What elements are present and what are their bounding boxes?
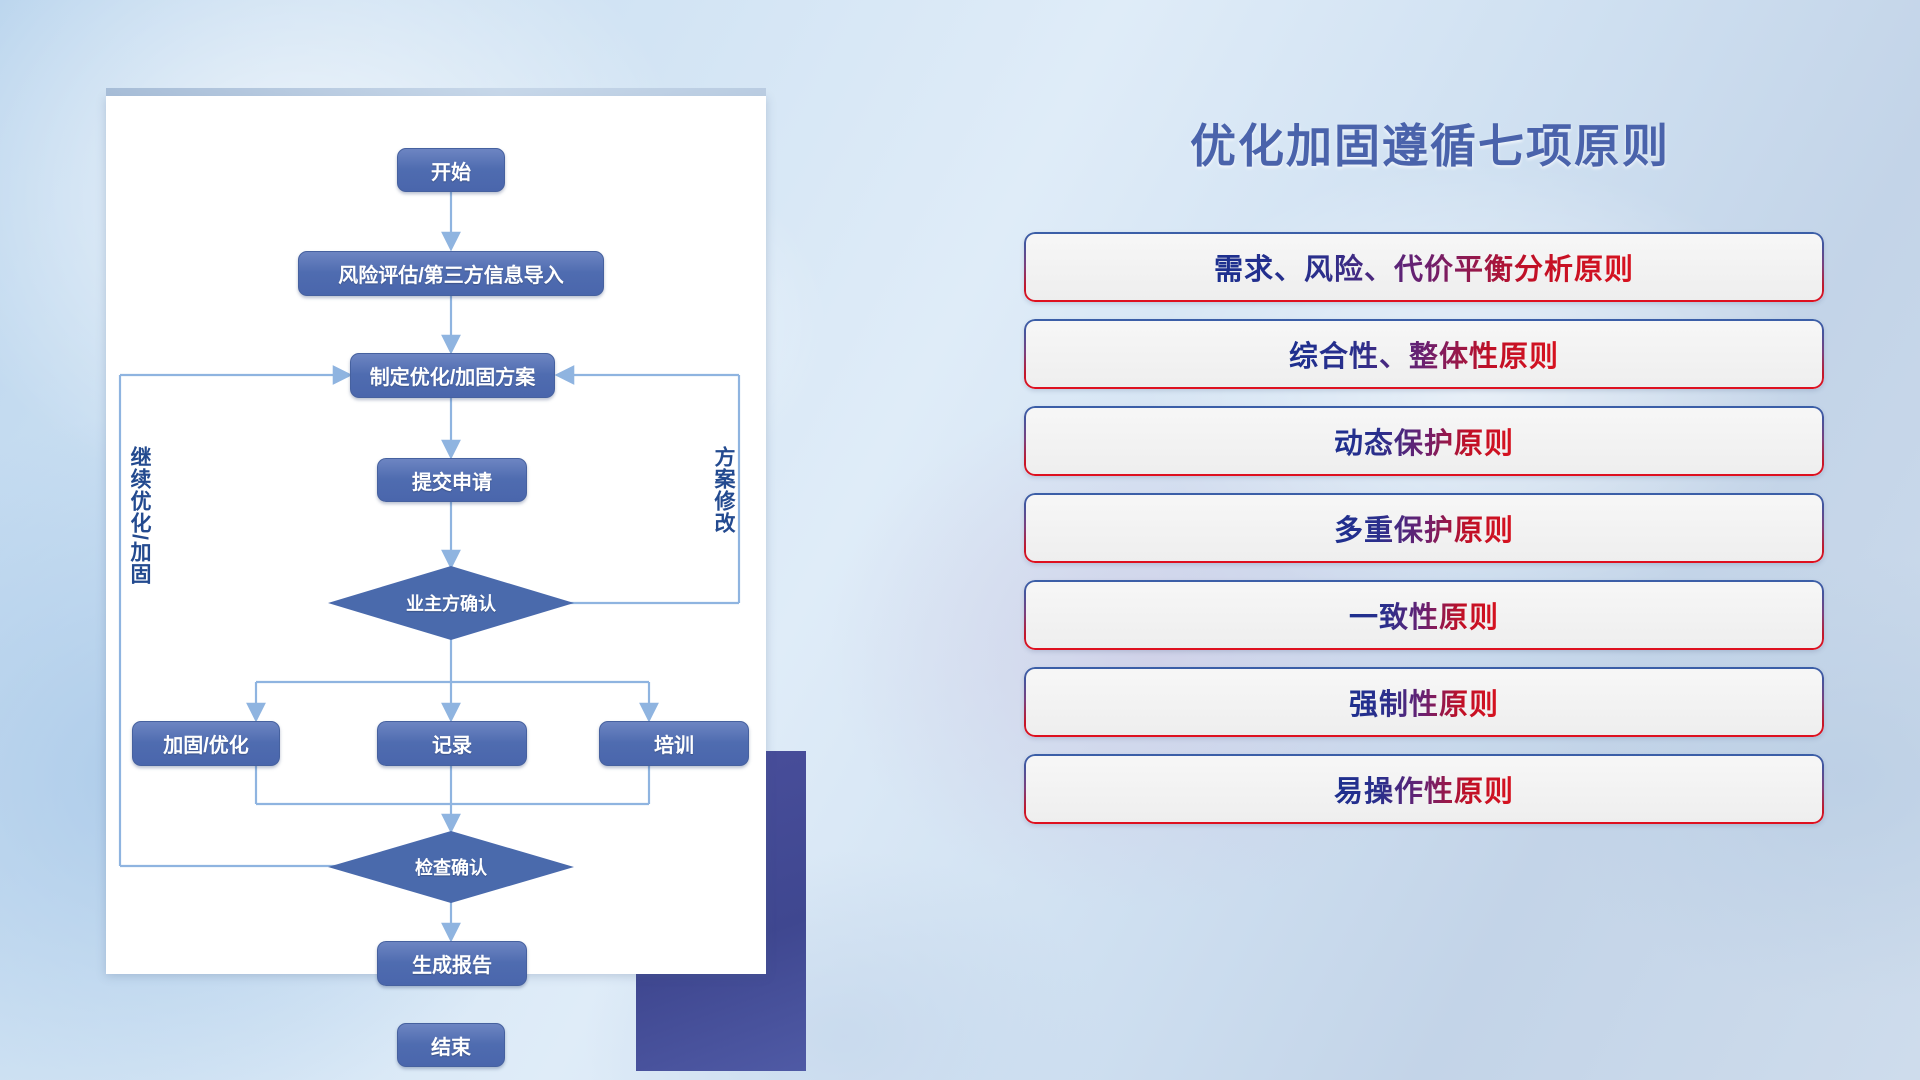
flow-node-record-label: 记录 — [432, 729, 472, 758]
sheet-top-edge — [106, 88, 766, 96]
principle-card-2-label: 综合性、整体性原则 — [1289, 333, 1559, 375]
principle-card-3[interactable]: 动态保护原则 — [1024, 406, 1824, 476]
principle-card-6-label: 强制性原则 — [1349, 681, 1499, 723]
principle-card-3-label: 动态保护原则 — [1334, 420, 1514, 462]
flow-node-plan-label: 制定优化/加固方案 — [370, 361, 536, 390]
principles-list: 需求、风险、代价平衡分析原则 综合性、整体性原则 动态保护原则 多重保护原则 一… — [1024, 232, 1824, 841]
flow-side-label-right-text: 方案修改 — [712, 446, 735, 534]
principle-card-5[interactable]: 一致性原则 — [1024, 580, 1824, 650]
principle-card-5-label: 一致性原则 — [1349, 594, 1499, 636]
principle-card-7-label: 易操作性原则 — [1334, 768, 1514, 810]
flow-node-plan[interactable]: 制定优化/加固方案 — [350, 353, 555, 398]
flow-node-reinforce[interactable]: 加固/优化 — [132, 721, 280, 766]
flow-node-check-confirm-label: 检查确认 — [415, 854, 487, 880]
flow-node-owner-confirm-label: 业主方确认 — [406, 590, 496, 616]
flow-node-start[interactable]: 开始 — [397, 148, 505, 192]
principle-card-2[interactable]: 综合性、整体性原则 — [1024, 319, 1824, 389]
principle-card-7[interactable]: 易操作性原则 — [1024, 754, 1824, 824]
principles-panel: 优化加固遵循七项原则 需求、风险、代价平衡分析原则 综合性、整体性原则 动态保护… — [1020, 0, 1920, 1080]
flow-node-reinforce-label: 加固/优化 — [163, 729, 249, 758]
flow-node-report-label: 生成报告 — [412, 949, 492, 978]
flow-node-record[interactable]: 记录 — [377, 721, 527, 766]
flow-node-owner-confirm[interactable]: 业主方确认 — [328, 566, 574, 640]
flow-node-start-label: 开始 — [431, 156, 471, 185]
flow-node-risk-assessment[interactable]: 风险评估/第三方信息导入 — [298, 251, 604, 296]
principle-card-6[interactable]: 强制性原则 — [1024, 667, 1824, 737]
flow-node-training-label: 培训 — [654, 729, 694, 758]
flowchart-panel: 继续优化/加固 方案修改 开始 风险评估/第三方信息导入 制定优化/加固方案 提… — [106, 96, 786, 976]
flow-node-submit-label: 提交申请 — [412, 466, 492, 495]
principle-card-4-label: 多重保护原则 — [1334, 507, 1514, 549]
principle-card-1-label: 需求、风险、代价平衡分析原则 — [1214, 246, 1634, 288]
flow-node-end[interactable]: 结束 — [397, 1023, 505, 1067]
flow-node-risk-assessment-label: 风险评估/第三方信息导入 — [338, 259, 564, 288]
principle-card-1[interactable]: 需求、风险、代价平衡分析原则 — [1024, 232, 1824, 302]
flow-node-report[interactable]: 生成报告 — [377, 941, 527, 986]
flow-side-label-left: 继续优化/加固 — [128, 446, 150, 585]
flow-side-label-right: 方案修改 — [712, 446, 734, 534]
flow-side-label-left-text: 继续优化/加固 — [128, 446, 151, 585]
flow-node-training[interactable]: 培训 — [599, 721, 749, 766]
page-title: 优化加固遵循七项原则 — [1020, 110, 1840, 176]
flow-node-submit[interactable]: 提交申请 — [377, 458, 527, 502]
flow-node-end-label: 结束 — [431, 1031, 471, 1060]
flow-node-check-confirm[interactable]: 检查确认 — [328, 831, 574, 903]
principle-card-4[interactable]: 多重保护原则 — [1024, 493, 1824, 563]
